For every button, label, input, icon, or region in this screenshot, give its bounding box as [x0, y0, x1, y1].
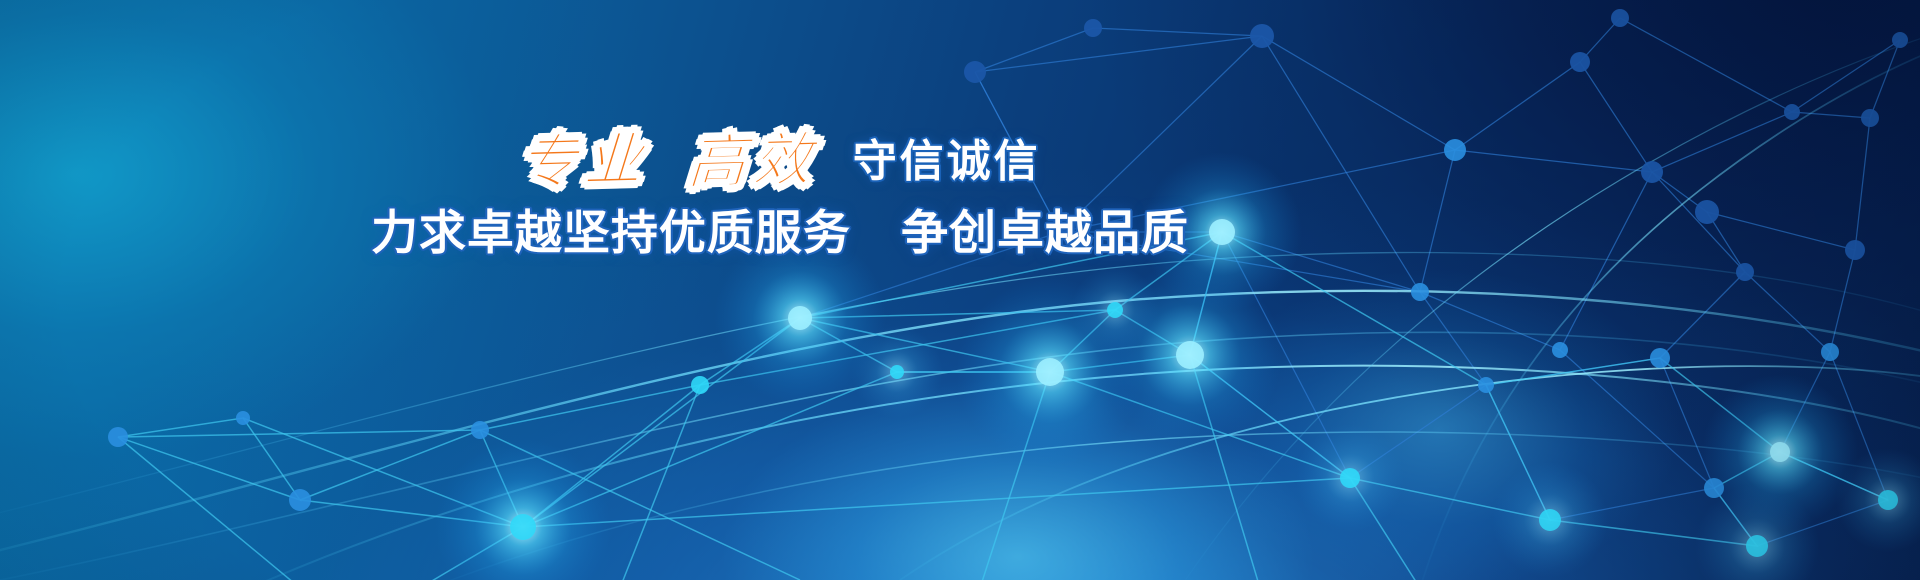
network-node — [510, 514, 536, 540]
network-node — [1107, 302, 1123, 318]
network-node — [1746, 535, 1768, 557]
network-node — [1892, 32, 1908, 48]
network-node — [1209, 219, 1235, 245]
network-node — [1539, 509, 1561, 531]
background-teal-glow — [0, 0, 1920, 580]
slogan-brush-word-1: 专业 — [517, 130, 651, 192]
network-node — [1650, 348, 1670, 368]
network-node — [1611, 9, 1629, 27]
background-cyan-core-glow — [0, 0, 1920, 580]
network-node — [1704, 478, 1724, 498]
network-node — [1770, 442, 1790, 462]
node-glow-halos — [435, 152, 1920, 580]
network-node — [1784, 104, 1800, 120]
network-node — [108, 427, 128, 447]
mesh-lines-upper — [800, 18, 1900, 546]
network-node — [1736, 263, 1754, 281]
network-node — [1878, 490, 1898, 510]
network-nodes — [108, 9, 1908, 557]
network-node — [236, 411, 250, 425]
slogan-brush-word-2: 高效 — [686, 130, 820, 192]
promotional-banner: 专业 高效 守信诚信 力求卓越坚持优质服务 争创卓越品质 — [0, 0, 1920, 580]
network-node — [691, 376, 709, 394]
network-node — [890, 365, 904, 379]
mesh-lines-lower — [118, 232, 1888, 580]
network-node — [1084, 19, 1102, 37]
network-node — [1478, 377, 1494, 393]
background-vignette — [0, 0, 1920, 580]
slogan-plain-word: 守信诚信 — [853, 140, 1041, 184]
network-node — [1411, 283, 1429, 301]
network-node — [1340, 468, 1360, 488]
network-node — [1695, 200, 1719, 224]
headline-primary-line: 专业 高效 守信诚信 — [0, 132, 1560, 198]
network-node — [1641, 161, 1663, 183]
subline-part-2: 争创卓越品质 — [901, 206, 1189, 259]
network-node — [289, 489, 311, 511]
background-lower-glow — [0, 0, 1920, 580]
network-node — [1176, 341, 1204, 369]
network-constellation-graphic — [0, 0, 1920, 580]
network-node — [1845, 240, 1865, 260]
headline-secondary-line: 力求卓越坚持优质服务 争创卓越品质 — [0, 208, 1560, 259]
network-node — [1444, 139, 1466, 161]
network-node — [1036, 358, 1064, 386]
banner-headline-block: 专业 高效 守信诚信 力求卓越坚持优质服务 争创卓越品质 — [0, 132, 1560, 259]
network-node — [788, 306, 812, 330]
network-node — [1051, 223, 1069, 241]
background-base-gradient — [0, 0, 1920, 580]
subline-part-1: 力求卓越坚持优质服务 — [371, 206, 851, 259]
network-node — [964, 61, 986, 83]
network-node — [1250, 24, 1274, 48]
network-node — [1821, 343, 1839, 361]
background-topright-shadow — [0, 0, 1920, 580]
globe-arc-curves — [0, 26, 1920, 580]
network-node — [471, 421, 489, 439]
network-node — [1552, 342, 1568, 358]
network-node — [1861, 109, 1879, 127]
network-node — [1570, 52, 1590, 72]
